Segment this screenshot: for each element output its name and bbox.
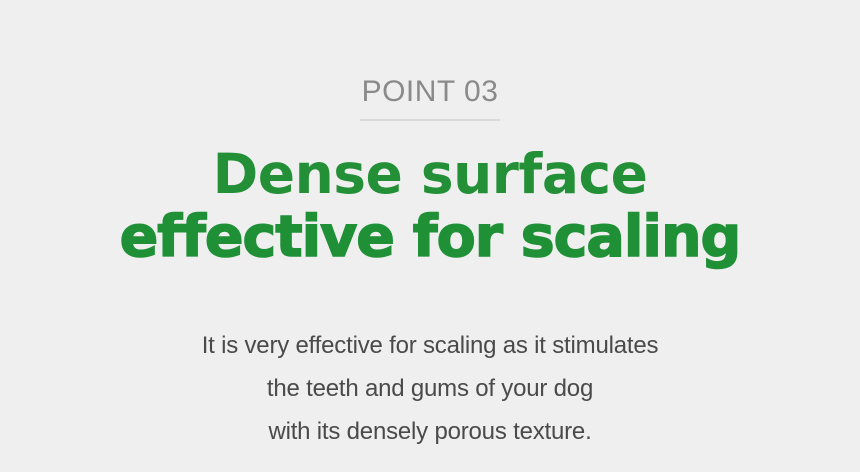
- body-line-3: with its densely porous texture.: [202, 410, 659, 453]
- headline-line-2: effective for scaling: [120, 205, 741, 269]
- promo-panel: POINT 03 Dense surface effective for sca…: [0, 0, 860, 472]
- body-line-2: the teeth and gums of your dog: [202, 367, 659, 410]
- headline: Dense surface effective for scaling: [120, 143, 741, 269]
- eyebrow-divider: [360, 119, 500, 121]
- body-copy: It is very effective for scaling as it s…: [202, 324, 659, 453]
- body-line-1: It is very effective for scaling as it s…: [202, 324, 659, 367]
- eyebrow-block: POINT 03: [360, 76, 500, 121]
- headline-line-1: Dense surface: [120, 143, 741, 205]
- point-label: POINT 03: [362, 76, 499, 108]
